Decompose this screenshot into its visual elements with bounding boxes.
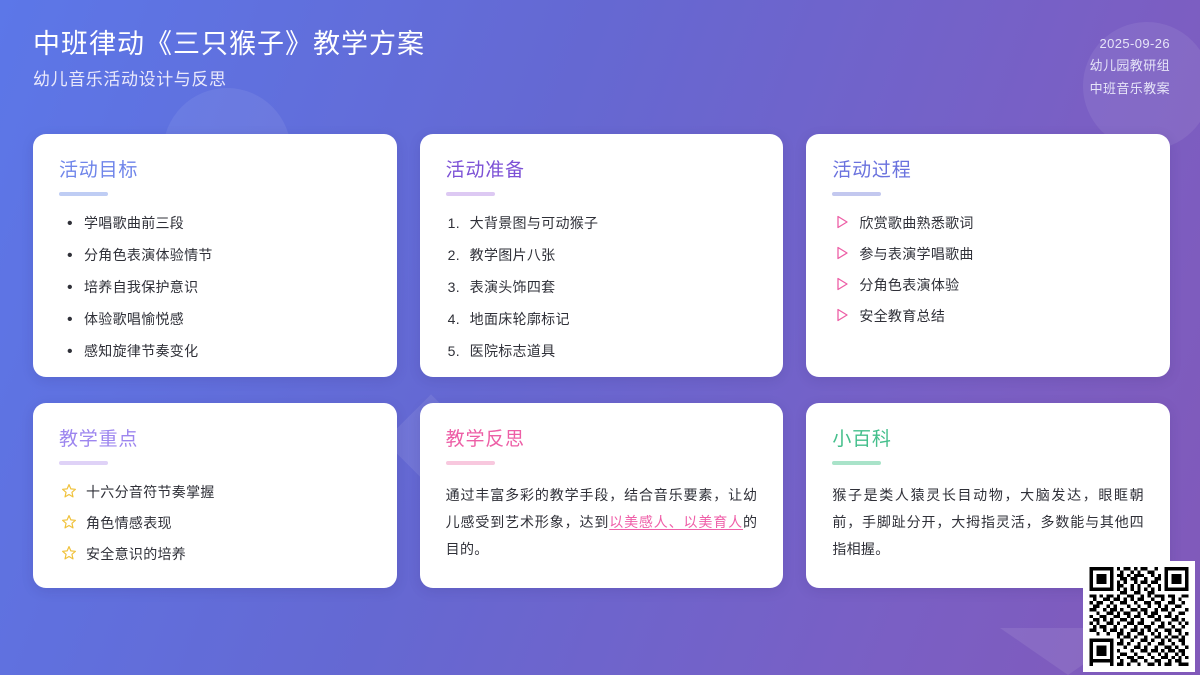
card-title-rule (446, 192, 495, 196)
card-activity-process: 活动过程 欣赏歌曲熟悉歌词 参与表演学唱歌曲 (806, 134, 1170, 377)
list-item: 地面床轮廓标记 (446, 309, 758, 330)
card-body: 欣赏歌曲熟悉歌词 参与表演学唱歌曲 分角色表演体验 (832, 213, 1144, 327)
header-meta-block: 2025-09-26 幼儿园教研组 中班音乐教案 (1090, 33, 1170, 100)
preparation-list: 大背景图与可动猴子 教学图片八张 表演头饰四套 地面床轮廓标记 医院标志道具 (446, 213, 758, 362)
list-item: 体验歌唱愉悦感 (59, 309, 371, 330)
list-item: 分角色表演体验 (832, 275, 1144, 296)
card-activity-goals: 活动目标 学唱歌曲前三段 分角色表演体验情节 培养自我保护意识 体验歌唱愉悦感 … (33, 134, 397, 377)
card-activity-preparation: 活动准备 大背景图与可动猴子 教学图片八张 表演头饰四套 地面床轮廓标记 医院标… (420, 134, 784, 377)
star-icon (61, 545, 77, 561)
list-item: 安全教育总结 (832, 306, 1144, 327)
header-title-block: 中班律动《三只猴子》教学方案 幼儿音乐活动设计与反思 (33, 26, 425, 92)
play-triangle-icon (834, 214, 850, 230)
meta-category: 中班音乐教案 (1090, 78, 1170, 100)
card-title-rule (832, 192, 881, 196)
card-title: 活动目标 (59, 160, 371, 183)
list-item: 分角色表演体验情节 (59, 245, 371, 266)
list-item: 医院标志道具 (446, 341, 758, 362)
meta-date: 2025-09-26 (1100, 33, 1171, 55)
list-item-label: 安全教育总结 (859, 308, 945, 324)
list-item-label: 安全意识的培养 (86, 546, 186, 562)
slide-header: 中班律动《三只猴子》教学方案 幼儿音乐活动设计与反思 2025-09-26 幼儿… (0, 0, 1200, 100)
list-item: 学唱歌曲前三段 (59, 213, 371, 234)
star-icon (61, 483, 77, 499)
list-item: 培养自我保护意识 (59, 277, 371, 298)
page-subtitle: 幼儿音乐活动设计与反思 (33, 69, 425, 92)
card-title: 小百科 (832, 429, 1144, 452)
card-body: 通过丰富多彩的教学手段，结合音乐要素，让幼儿感受到艺术形象，达到以美感人、以美育… (446, 482, 758, 564)
list-item: 教学图片八张 (446, 245, 758, 266)
card-title: 教学反思 (446, 429, 758, 452)
card-teaching-focus: 教学重点 十六分音符节奏掌握 角色情感表现 (33, 403, 397, 588)
qr-code-image (1089, 567, 1189, 666)
reflection-paragraph: 通过丰富多彩的教学手段，结合音乐要素，让幼儿感受到艺术形象，达到以美感人、以美育… (446, 482, 758, 564)
star-icon (61, 514, 77, 530)
list-item: 感知旋律节奏变化 (59, 341, 371, 362)
list-item: 大背景图与可动猴子 (446, 213, 758, 234)
focus-list: 十六分音符节奏掌握 角色情感表现 安全意识的培养 (59, 482, 371, 565)
card-title: 教学重点 (59, 429, 371, 452)
play-triangle-icon (834, 307, 850, 323)
card-title-rule (59, 192, 108, 196)
card-grid: 活动目标 学唱歌曲前三段 分角色表演体验情节 培养自我保护意识 体验歌唱愉悦感 … (33, 134, 1170, 588)
card-title-rule (832, 461, 881, 465)
encyclopedia-paragraph: 猴子是类人猿灵长目动物，大脑发达，眼眶朝前，手脚趾分开，大拇指灵活，多数能与其他… (832, 482, 1144, 564)
goals-list: 学唱歌曲前三段 分角色表演体验情节 培养自我保护意识 体验歌唱愉悦感 感知旋律节… (59, 213, 371, 362)
list-item-label: 分角色表演体验 (859, 277, 959, 293)
process-list: 欣赏歌曲熟悉歌词 参与表演学唱歌曲 分角色表演体验 (832, 213, 1144, 327)
qr-code[interactable] (1083, 561, 1195, 672)
card-body: 十六分音符节奏掌握 角色情感表现 安全意识的培养 (59, 482, 371, 565)
reflection-link[interactable]: 以美感人、以美育人 (609, 514, 743, 530)
card-title-rule (446, 461, 495, 465)
card-body: 猴子是类人猿灵长目动物，大脑发达，眼眶朝前，手脚趾分开，大拇指灵活，多数能与其他… (832, 482, 1144, 564)
list-item-label: 角色情感表现 (86, 515, 172, 531)
list-item: 参与表演学唱歌曲 (832, 244, 1144, 265)
slide-root: 中班律动《三只猴子》教学方案 幼儿音乐活动设计与反思 2025-09-26 幼儿… (0, 0, 1200, 675)
list-item: 表演头饰四套 (446, 277, 758, 298)
card-title: 活动准备 (446, 160, 758, 183)
list-item: 十六分音符节奏掌握 (59, 482, 371, 503)
play-triangle-icon (834, 245, 850, 261)
list-item: 角色情感表现 (59, 513, 371, 534)
card-title: 活动过程 (832, 160, 1144, 183)
list-item-label: 十六分音符节奏掌握 (86, 484, 215, 500)
meta-org: 幼儿园教研组 (1090, 55, 1170, 77)
list-item-label: 参与表演学唱歌曲 (859, 246, 973, 262)
play-triangle-icon (834, 276, 850, 292)
card-body: 大背景图与可动猴子 教学图片八张 表演头饰四套 地面床轮廓标记 医院标志道具 (446, 213, 758, 362)
list-item: 欣赏歌曲熟悉歌词 (832, 213, 1144, 234)
page-title: 中班律动《三只猴子》教学方案 (33, 26, 425, 62)
list-item: 安全意识的培养 (59, 544, 371, 565)
card-teaching-reflection: 教学反思 通过丰富多彩的教学手段，结合音乐要素，让幼儿感受到艺术形象，达到以美感… (420, 403, 784, 588)
card-body: 学唱歌曲前三段 分角色表演体验情节 培养自我保护意识 体验歌唱愉悦感 感知旋律节… (59, 213, 371, 362)
list-item-label: 欣赏歌曲熟悉歌词 (859, 215, 973, 231)
card-title-rule (59, 461, 108, 465)
